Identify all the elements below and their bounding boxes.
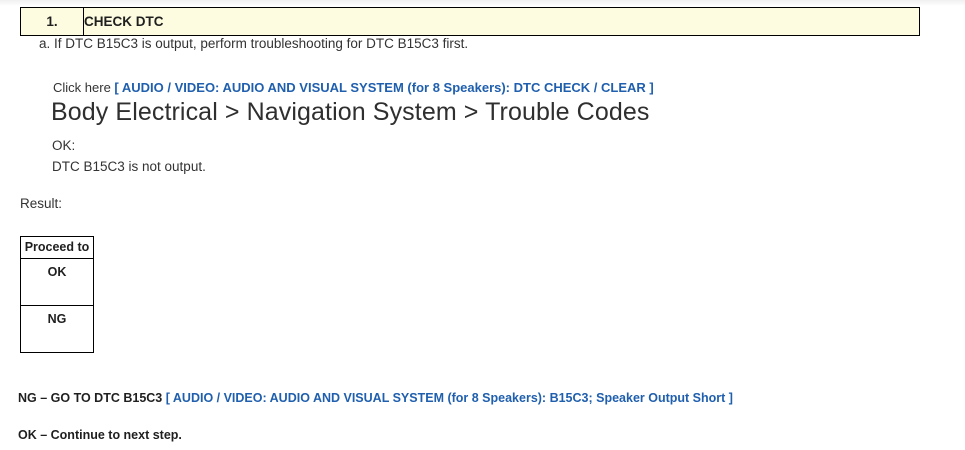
step-number-cell: 1. bbox=[21, 8, 84, 36]
outcome-ng-line: NG – GO TO DTC B15C3 [ AUDIO / VIDEO: AU… bbox=[18, 391, 733, 405]
outcome-ng-prefix: NG – GO TO DTC B15C3 bbox=[18, 391, 166, 405]
ok-condition-label: OK: bbox=[52, 138, 75, 153]
result-table-head: Proceed to bbox=[21, 237, 94, 259]
outcome-ok-line: OK – Continue to next step. bbox=[18, 428, 182, 442]
click-here-label: Click here bbox=[53, 80, 111, 95]
table-row: NG bbox=[21, 306, 94, 353]
result-row-ok: OK bbox=[21, 259, 94, 306]
result-table-header-proceed-to: Proceed to bbox=[21, 237, 94, 259]
dtc-check-clear-link[interactable]: [ AUDIO / VIDEO: AUDIO AND VISUAL SYSTEM… bbox=[114, 80, 653, 95]
step-sub-item-a: a. If DTC B15C3 is output, perform troub… bbox=[39, 36, 468, 51]
result-table-body: OK NG bbox=[21, 259, 94, 353]
result-table-header-row: Proceed to bbox=[21, 237, 94, 259]
page-top-shade bbox=[0, 0, 965, 6]
breadcrumb-heading: Body Electrical > Navigation System > Tr… bbox=[51, 98, 649, 127]
document-canvas: 1. CHECK DTC a. If DTC B15C3 is output, … bbox=[0, 0, 965, 450]
result-table: Proceed to OK NG bbox=[20, 236, 94, 353]
step-header-row: 1. CHECK DTC bbox=[21, 8, 920, 36]
table-row: OK bbox=[21, 259, 94, 306]
speaker-output-short-link[interactable]: [ AUDIO / VIDEO: AUDIO AND VISUAL SYSTEM… bbox=[166, 391, 733, 405]
result-label: Result: bbox=[20, 196, 62, 211]
step-header-table: 1. CHECK DTC bbox=[20, 7, 920, 36]
reference-link-line: Click here [ AUDIO / VIDEO: AUDIO AND VI… bbox=[53, 80, 654, 95]
step-title-cell: CHECK DTC bbox=[84, 8, 920, 36]
ok-condition-text: DTC B15C3 is not output. bbox=[52, 159, 206, 174]
result-row-ng: NG bbox=[21, 306, 94, 353]
